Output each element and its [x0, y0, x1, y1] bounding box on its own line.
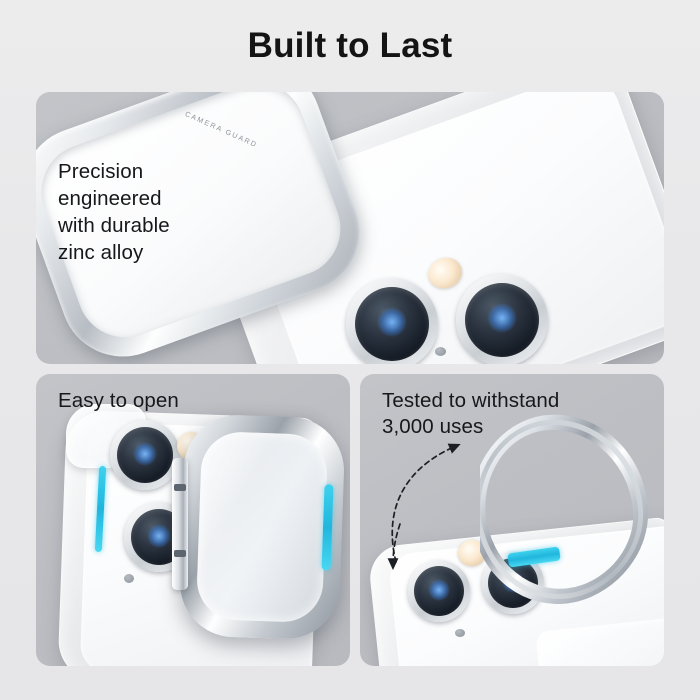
feature-panel-easy-to-open: Easy to open [36, 374, 350, 666]
microphone-hole-icon [124, 574, 134, 583]
camera-lens-glass-wide [117, 427, 173, 483]
kickstand-hinge[interactable] [172, 458, 188, 590]
lens-flare-ultrawide [487, 303, 517, 333]
camera-lens-ring-wide [408, 560, 470, 622]
microphone-hole-icon [435, 347, 446, 356]
camera-lens-ring-ultrawide [456, 274, 548, 364]
camera-lens-ring-wide [110, 420, 180, 490]
panel-caption-easy-to-open: Easy to open [58, 388, 179, 414]
camera-lens-glass-wide [414, 566, 464, 616]
feature-panel-durability: Tested to withstand 3,000 uses [360, 374, 664, 666]
lens-flare-wide [133, 442, 157, 466]
hinge-notch-upper [174, 484, 186, 491]
lens-flare-ultrawide [147, 524, 171, 548]
lens-flare-wide [377, 307, 407, 337]
page-title: Built to Last [0, 26, 700, 66]
bottom-left-artwork [36, 374, 350, 666]
lens-flare-wide [428, 579, 450, 601]
camera-lens-glass-wide [355, 287, 429, 361]
kickstand-inner-panel [196, 431, 328, 623]
kickstand-frame-open[interactable] [178, 413, 346, 640]
product-feature-page: Built to Last CAMERA GUARD [0, 0, 700, 700]
ring-stand-open[interactable] [480, 414, 664, 604]
microphone-hole-icon [455, 629, 465, 637]
camera-lens-ring-wide [346, 278, 438, 364]
panel-caption-durability: Tested to withstand 3,000 uses [382, 388, 559, 440]
feature-panel-precision: CAMERA GUARD Precision engineered with d… [36, 92, 664, 364]
hinge-notch-lower [174, 550, 186, 557]
panel-caption-precision: Precision engineered with durable zinc a… [58, 158, 170, 266]
kickstand-cyan-accent [322, 484, 334, 570]
camera-lens-glass-ultrawide [465, 283, 539, 357]
